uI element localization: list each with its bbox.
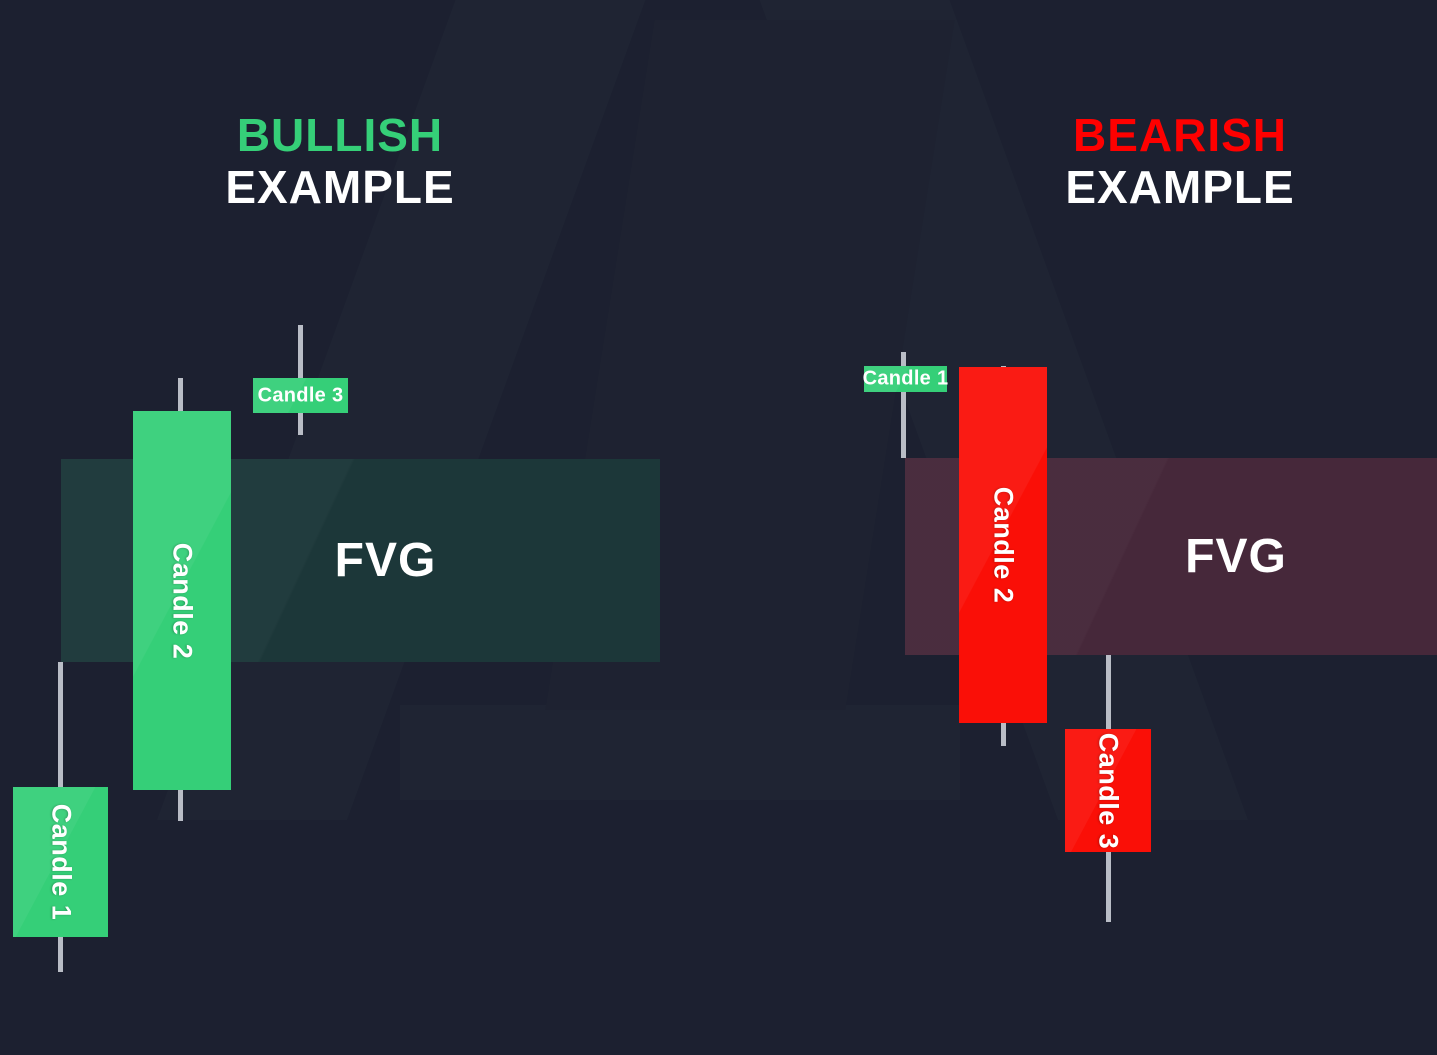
bearish-title-line1: BEARISH <box>990 110 1370 162</box>
bearish-candle-1-body: Candle 1 <box>864 366 947 392</box>
bearish-fvg-label: FVG <box>1185 529 1287 584</box>
bullish-candle-1-body: Candle 1 <box>13 787 108 937</box>
bearish-candle-3-body: Candle 3 <box>1065 729 1151 852</box>
bearish-candle-2-label: Candle 2 <box>988 487 1019 604</box>
bullish-fvg-label: FVG <box>335 533 437 588</box>
bearish-title-line2: EXAMPLE <box>990 162 1370 214</box>
bullish-candle-2-body: Candle 2 <box>133 411 231 790</box>
bullish-candle-3-label: Candle 3 <box>258 384 344 407</box>
bullish-candle-1-label: Candle 1 <box>45 804 76 921</box>
bullish-title-line1: BULLISH <box>150 110 530 162</box>
bearish-candle-3-label: Candle 3 <box>1093 732 1124 849</box>
watermark-shape-crossbar <box>400 705 960 800</box>
bullish-title-block: BULLISH EXAMPLE <box>150 110 530 213</box>
bullish-candle-3-body: Candle 3 <box>253 378 348 413</box>
bullish-title-line2: EXAMPLE <box>150 162 530 214</box>
bearish-candle-1-label: Candle 1 <box>863 368 949 391</box>
bearish-candle-2-body: Candle 2 <box>959 367 1047 723</box>
bullish-candle-2-label: Candle 2 <box>167 542 198 659</box>
diagram-canvas: BULLISH EXAMPLE FVG Candle 1 Candle 2 Ca… <box>0 0 1437 1055</box>
bearish-title-block: BEARISH EXAMPLE <box>990 110 1370 213</box>
